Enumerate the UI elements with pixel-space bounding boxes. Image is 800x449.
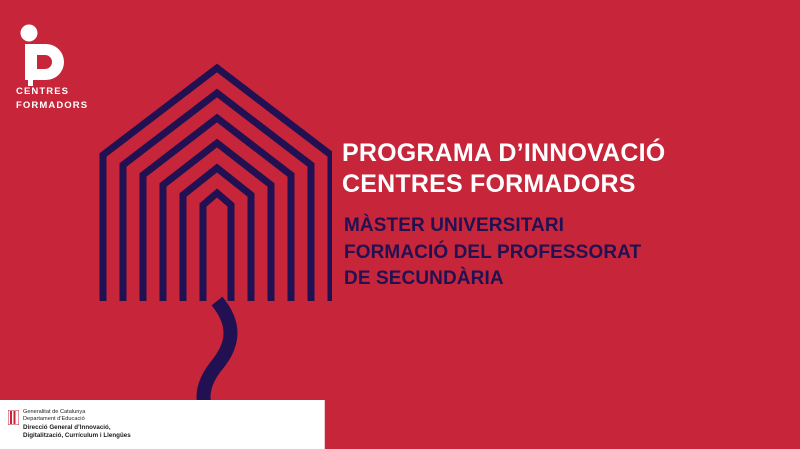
subheadline-line-1: MÀSTER UNIVERSITARI: [344, 213, 774, 240]
footer-line-4: Digitalització, Currículum i Llengües: [23, 432, 153, 440]
subheadline-line-2: FORMACIÓ DEL PROFESSORAT: [344, 240, 774, 267]
subheadline-line-3: DE SECUNDÀRIA: [344, 266, 774, 293]
headline-line-2: CENTRES FORMADORS: [342, 169, 772, 200]
logo-text-line-1: CENTRES: [16, 86, 69, 97]
footer-panel: Generalitat de Catalunya Departament d’E…: [0, 400, 325, 449]
generalitat-logo: Generalitat de Catalunya Departament d’E…: [8, 409, 140, 443]
footer-line-1: Generalitat de Catalunya: [23, 409, 153, 416]
centres-formadors-c-mark: [12, 24, 82, 86]
generalitat-de-catalunya-bars-icon: [8, 410, 19, 425]
logo-text-line-2: FORMADORS: [16, 100, 88, 111]
headline: PROGRAMA D’INNOVACIÓ CENTRES FORMADORS: [342, 138, 772, 200]
footer-line-2: Departament d’Educació: [23, 416, 153, 423]
footer-line-3: Direcció General d’Innovació,: [23, 424, 153, 432]
subheadline: MÀSTER UNIVERSITARI FORMACIÓ DEL PROFESS…: [344, 213, 774, 293]
headline-line-1: PROGRAMA D’INNOVACIÓ: [342, 138, 772, 169]
concentric-house-graphic: [92, 55, 332, 449]
slide-canvas: CENTRES FORMADORS PROGRAMA D’INNOVACIÓ C…: [0, 0, 800, 449]
generalitat-logo-text: Generalitat de Catalunya Departament d’E…: [23, 409, 153, 440]
centres-formadors-logo: CENTRES FORMADORS: [12, 24, 122, 110]
